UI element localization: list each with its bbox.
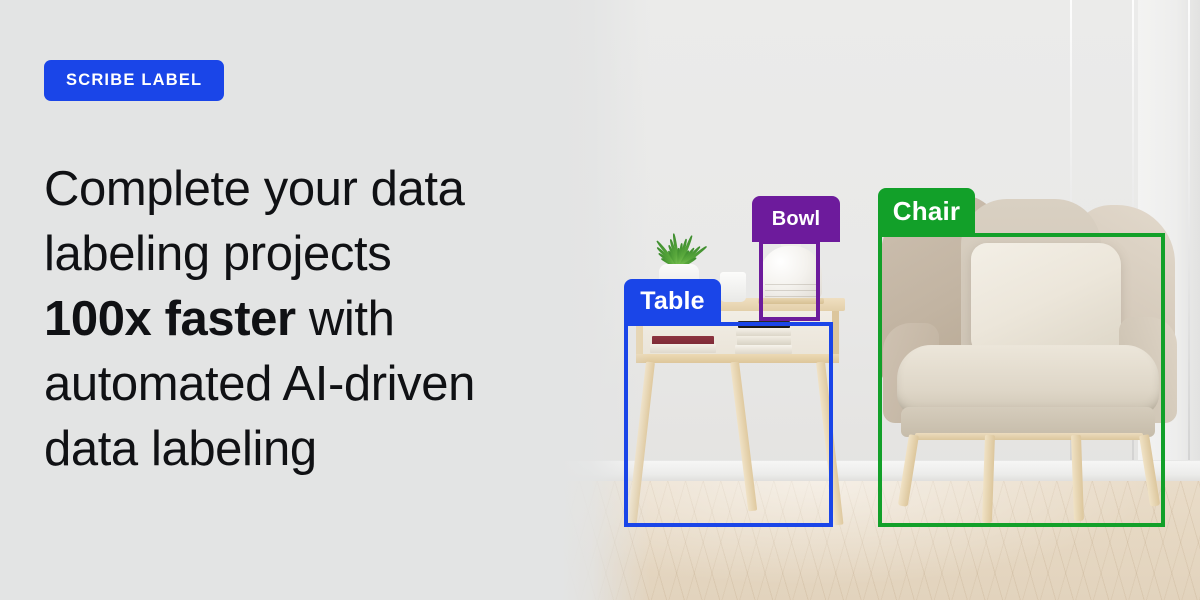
wall-seam (1188, 0, 1190, 500)
bounding-box-label-text: Table (640, 287, 704, 316)
page-title: Complete your data labeling projects 100… (44, 157, 604, 482)
bounding-box-label-table[interactable]: Table (624, 279, 721, 324)
bounding-box-bowl[interactable] (759, 240, 820, 321)
bounding-box-chair[interactable] (878, 233, 1165, 527)
headline-line-5: data labeling (44, 422, 317, 476)
bounding-box-label-text: Chair (893, 196, 960, 227)
marketing-banner: Table Bowl Chair SCRIBE LABEL Complete y… (0, 0, 1200, 600)
headline-line-3-rest: with (296, 292, 395, 346)
headline-line-4: automated AI-driven (44, 357, 475, 411)
headline-line-2: labeling projects (44, 227, 391, 281)
bounding-box-label-chair[interactable]: Chair (878, 188, 975, 235)
cup (720, 272, 746, 302)
headline-emphasis: 100x faster (44, 292, 296, 346)
brand-badge: SCRIBE LABEL (44, 60, 224, 101)
brand-badge-label: SCRIBE LABEL (66, 71, 202, 90)
bounding-box-table[interactable] (624, 322, 833, 527)
bounding-box-label-text: Bowl (772, 208, 821, 231)
bounding-box-label-bowl[interactable]: Bowl (752, 196, 840, 242)
headline-line-1: Complete your data (44, 162, 464, 216)
